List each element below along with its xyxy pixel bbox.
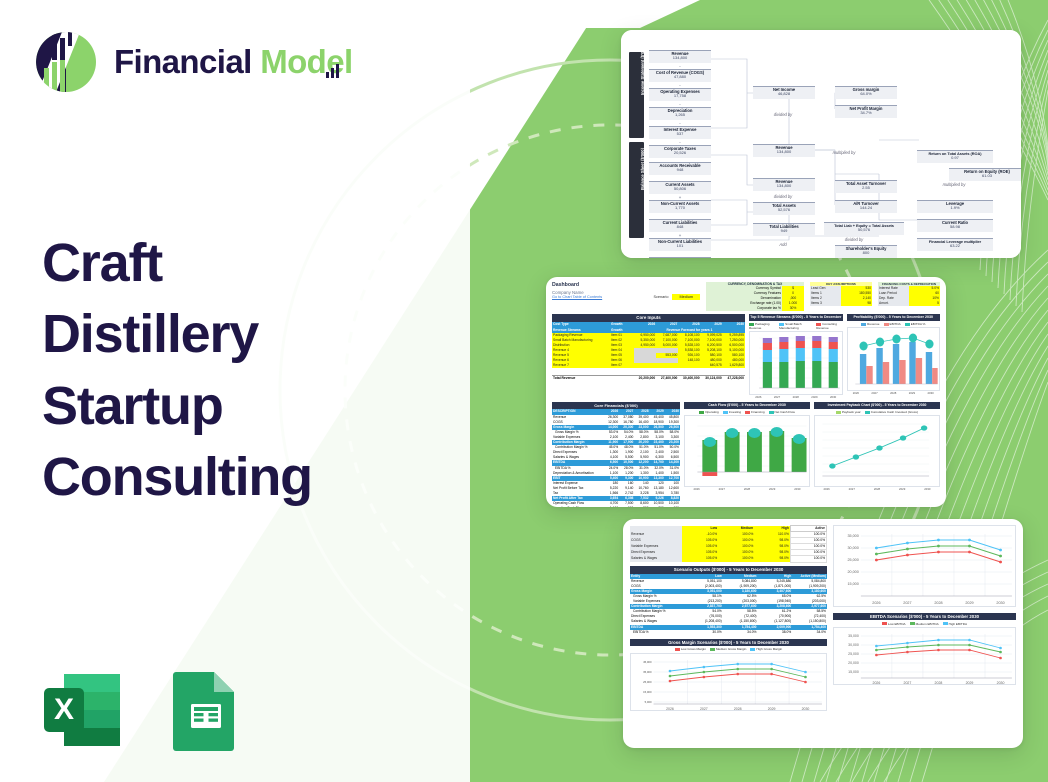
- table-row: Packaging RevenueItem 016,950,0007,687,0…: [552, 333, 745, 338]
- dupont-node: Leverage1.9%: [917, 200, 993, 213]
- svg-text:2028: 2028: [934, 601, 942, 605]
- dupont-node: Accounts Receivable948: [649, 162, 711, 175]
- dupont-node: Revenue134,800: [753, 144, 815, 157]
- svg-text:2027: 2027: [904, 681, 912, 685]
- svg-text:30,000: 30,000: [848, 643, 859, 647]
- headline-line-3: Startup: [42, 371, 312, 442]
- svg-text:2029: 2029: [768, 707, 776, 711]
- dupont-analysis-card[interactable]: Income Statement ($'000) Balance Sheet (…: [621, 30, 1021, 258]
- svg-text:25,000: 25,000: [643, 680, 652, 684]
- core-financials-table: DESCRIPTION 2026 2027 2028 2029 2030 Rev…: [552, 409, 680, 507]
- table-header-row: DESCRIPTION 2026 2027 2028 2029 2030: [552, 409, 680, 414]
- chart-legend: Low Gross Margin Medium Gross Margin Hig…: [630, 647, 827, 651]
- chart-legend: Operating Investing Financing Net Cash F…: [684, 410, 810, 414]
- dupont-node: Shareholder's Equity800: [835, 245, 897, 258]
- cash-flow-plot: [685, 416, 809, 488]
- dashboard-title: Dashboard: [552, 282, 644, 290]
- dupont-node: Total Liab + Equity = Total Assets50,576: [824, 222, 904, 235]
- table-row: Salaries & Wages105.0%100.0%98.0%100.0%: [630, 556, 827, 562]
- svg-text:25,000: 25,000: [847, 558, 858, 562]
- brand-logo[interactable]: Financial Model: [32, 28, 353, 96]
- svg-text:35,000: 35,000: [848, 634, 859, 638]
- chart-legend: Low EBITDA Medium EBITDA High EBITDA: [833, 622, 1016, 626]
- table-row: Investing Cash Flow-1,100-900-800-700-60…: [552, 506, 680, 507]
- svg-text:15,000: 15,000: [643, 690, 652, 694]
- dupont-note: multiplied by: [819, 150, 869, 155]
- dupont-node: Non-Current Assets1,770: [649, 200, 711, 213]
- headline-line-4: Consulting: [42, 442, 312, 513]
- svg-text:2026: 2026: [873, 681, 881, 685]
- dupont-note: divided by: [829, 237, 879, 242]
- svg-text:35,000: 35,000: [847, 534, 858, 538]
- scenario-label: Scenario: [653, 295, 668, 299]
- dupont-node: Total Asset Turnover2.55: [835, 180, 897, 193]
- dupont-node: Interest Expense537: [649, 126, 711, 139]
- svg-text:30,000: 30,000: [847, 546, 858, 550]
- dupont-node: Corporate Taxes20,526: [649, 145, 711, 158]
- dupont-node: Depreciation1,265: [649, 107, 711, 120]
- financial-model-circle-chart-logo: [32, 28, 100, 96]
- scenario-assumptions-table: LowMediumHighActive Revenue-10.0%100.0%1…: [630, 525, 827, 563]
- core-financials-title: Core Financials ($'000): [552, 402, 680, 409]
- svg-text:20,000: 20,000: [848, 661, 859, 665]
- dupont-node: Operating Expenses17,758: [649, 88, 711, 101]
- scenario-overview-chart[interactable]: 35,00030,00025,00020,00015,000 202620272…: [833, 525, 1016, 607]
- dupont-node-roe: Return on Equity (ROE)61.03: [949, 168, 1021, 181]
- gross-margin-scenarios-chart[interactable]: 45,00035,00025,00015,0005,000 2026202720…: [630, 653, 827, 711]
- dupont-node: Net Profit Margin34.7%: [835, 105, 897, 118]
- gross-margin-plot: 45,00035,00025,00015,0005,000 2026202720…: [631, 654, 826, 712]
- svg-text:45,000: 45,000: [643, 660, 652, 664]
- headline-line-1: Craft: [42, 228, 312, 299]
- dupont-note: multiplied by: [929, 182, 979, 187]
- key-assumptions-table: Lead Gen530 Items 1180,550 Items 22,140 …: [810, 286, 872, 306]
- financial-dashboard-card[interactable]: Dashboard Company Name Go to Chart Table…: [546, 277, 946, 507]
- dupont-diagram: Income Statement ($'000) Balance Sheet (…: [629, 50, 1017, 252]
- svg-text:2028: 2028: [935, 681, 943, 685]
- dupont-node: Cost of Revenue (COGS)47,880: [649, 69, 711, 82]
- profitability-chart[interactable]: Profitability ($'000) - 5 Years to Decem…: [847, 314, 941, 399]
- cash-flow-chart[interactable]: Cash Flow ($'000) - 5 Years to December …: [684, 402, 810, 507]
- brand-name: Financial Model: [114, 43, 353, 81]
- ebitda-scenarios-plot: 35,00030,00025,00020,00015,000 202620272…: [834, 628, 1015, 686]
- headline-line-2: Distillery: [42, 299, 312, 370]
- table-row: [552, 368, 745, 375]
- assumptions-table: Currency Symbol$ Currency Features0 Deno…: [706, 286, 804, 311]
- dupont-node: Current Assets50,806: [649, 181, 711, 194]
- svg-text:20,000: 20,000: [847, 570, 858, 574]
- svg-text:25,000: 25,000: [848, 652, 859, 656]
- table-row: Items 398: [810, 301, 872, 306]
- svg-text:2027: 2027: [700, 707, 708, 711]
- microsoft-excel-icon[interactable]: X: [36, 664, 128, 756]
- dupont-node: Revenue134,800: [753, 178, 815, 191]
- chart-legend: Revenue EBITDA EBITDA %: [847, 322, 941, 326]
- scenario-overview-plot: 35,00030,00025,00020,00015,000 202620272…: [834, 526, 1015, 608]
- svg-text:2026: 2026: [872, 601, 880, 605]
- google-sheets-icon[interactable]: [158, 664, 250, 756]
- ebitda-scenarios-chart[interactable]: 35,00030,00025,00020,00015,000 202620272…: [833, 627, 1016, 685]
- svg-text:35,000: 35,000: [643, 670, 652, 674]
- svg-text:X: X: [54, 693, 74, 726]
- chart-legend: Payback year Cumulative Cash Invested (G…: [814, 410, 940, 414]
- dupont-node: Equity49,628: [649, 257, 711, 258]
- dupont-node: Current Liabilities848: [649, 219, 711, 232]
- financing-costs-table: Interest Rate5.0% Loan Period60 Dep. Rat…: [878, 286, 940, 306]
- stacked-bar-plot: [750, 332, 842, 396]
- svg-text:2027: 2027: [903, 601, 911, 605]
- left-content-column: Financial Model Craft Distillery Startup…: [0, 0, 470, 782]
- gross-margin-scenarios-title: Gross Margin Scenarios ($'000) - 5 Years…: [630, 639, 827, 646]
- dupont-note: divided by: [758, 112, 808, 117]
- svg-text:2028: 2028: [734, 707, 742, 711]
- dupont-note: Add: [758, 242, 808, 247]
- svg-text:15,000: 15,000: [847, 582, 858, 586]
- table-total-row: Total Revenue 20,200,000 27,400,000 30,4…: [552, 375, 745, 381]
- dupont-node: Total Assets52,576: [753, 202, 815, 215]
- top-5-revenue-streams-chart[interactable]: Top 5 Revenue Streams ($'000) - 5 Years …: [749, 314, 843, 399]
- dupont-note: divided by: [758, 194, 808, 199]
- scenario-outputs-title: Scenario Outputs ($'000) - 5 Years to De…: [630, 566, 827, 574]
- scenario-analysis-card[interactable]: LowMediumHighActive Revenue-10.0%100.0%1…: [623, 519, 1023, 748]
- core-inputs-table: Cost Type Growth 2026 2027 2028 2029 203…: [552, 322, 745, 380]
- dupont-node: Net Income46,828: [753, 86, 815, 99]
- svg-text:2026: 2026: [666, 707, 674, 711]
- svg-text:2029: 2029: [965, 601, 973, 605]
- dupont-node: Return on Total Assets (ROA)0.97: [917, 150, 993, 163]
- ebitda-scenarios-title: EBITDA Scenarios ($'000) - 5 Years to De…: [833, 613, 1016, 620]
- svg-text:2029: 2029: [966, 681, 974, 685]
- logo-bar-chart-icon: [324, 62, 341, 79]
- dupont-node: Financial Leverage multiplier63.22: [917, 238, 993, 251]
- file-format-icons: X: [36, 664, 250, 756]
- chart-legend: Packaging Revenue Small Batch Manufactur…: [749, 322, 843, 330]
- payback-line-plot: [815, 416, 939, 488]
- dupont-node: Total Liabilities949: [753, 223, 815, 236]
- dashboard-toc-link[interactable]: Go to Chart Table of Contents: [552, 295, 644, 299]
- svg-text:5,000: 5,000: [645, 700, 652, 704]
- core-inputs-title: Core Inputs: [552, 314, 745, 322]
- table-row: Amort.5: [878, 301, 940, 306]
- page-title: Craft Distillery Startup Consulting: [42, 228, 312, 513]
- investment-payback-chart[interactable]: Investment Payback Chart ($'000) - 5 Yea…: [814, 402, 940, 507]
- scenario-outputs-table: Entity Low Medium High Active (Medium) R…: [630, 574, 827, 635]
- table-row: EBITDA %30.0%34.0%38.0%34.0%: [630, 630, 827, 635]
- table-row: Depreciation & Amortisation1,1001,2001,3…: [552, 471, 680, 476]
- poster-canvas: Financial Model Craft Distillery Startup…: [0, 0, 1048, 782]
- svg-text:2030: 2030: [997, 681, 1005, 685]
- dupont-node: A/R Turnover144.24: [835, 200, 897, 213]
- svg-text:2030: 2030: [996, 601, 1004, 605]
- dupont-node: Gross margin64.0%: [835, 86, 897, 99]
- brand-name-part1: Financial: [114, 43, 260, 80]
- table-row: Corporate tax %30%: [706, 306, 804, 311]
- profitability-plot: [848, 328, 940, 392]
- dupont-node: Current Ratio58.98: [917, 219, 993, 232]
- dupont-node: Revenue134,800: [649, 50, 711, 63]
- svg-text:2030: 2030: [802, 707, 810, 711]
- scenario-selector[interactable]: Medium: [672, 294, 700, 300]
- svg-text:15,000: 15,000: [848, 670, 859, 674]
- dupont-node: Non-Current Liabilities101: [649, 238, 711, 251]
